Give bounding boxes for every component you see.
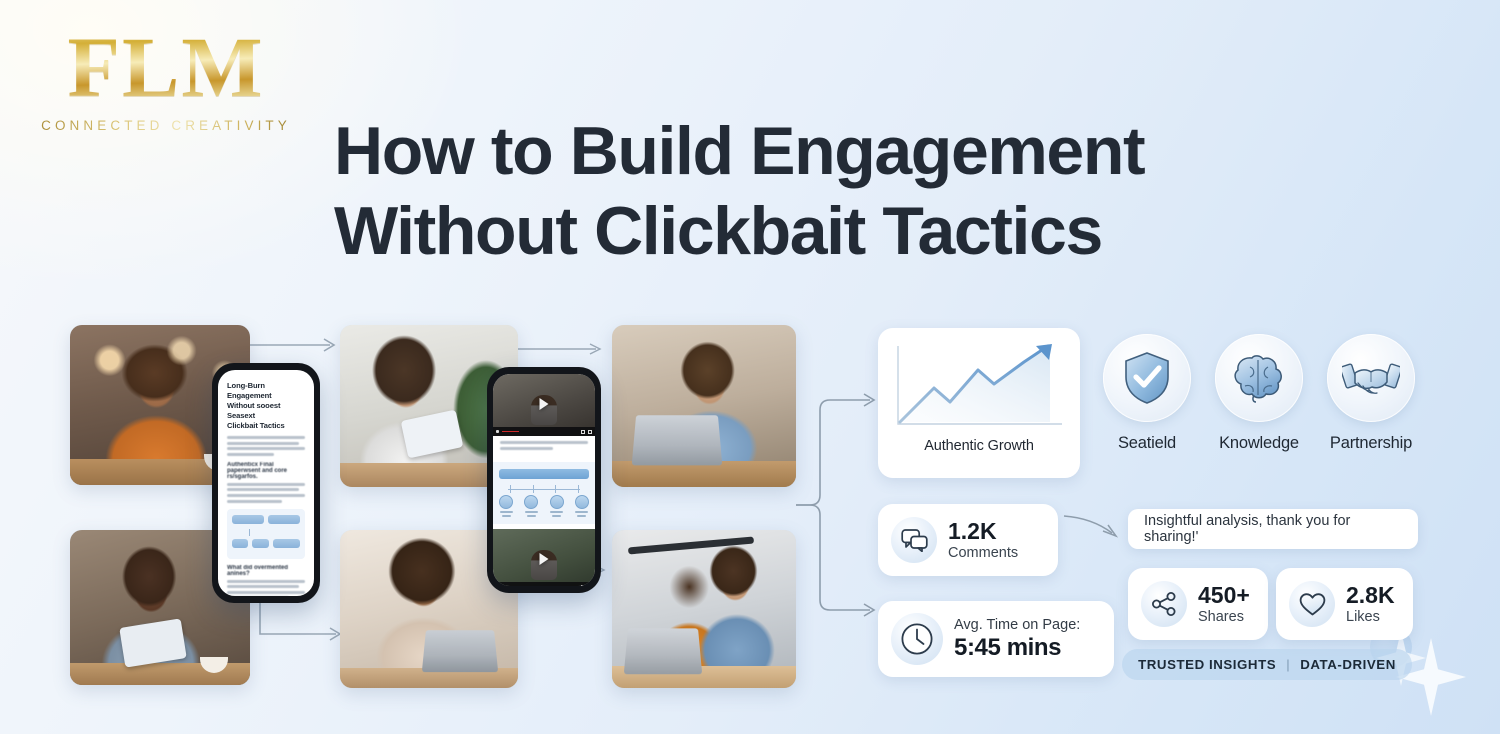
laptop-device — [422, 630, 498, 672]
diagram-nodes — [499, 495, 589, 517]
connector-arrow — [248, 330, 348, 360]
fullscreen-icon[interactable] — [581, 585, 585, 586]
video-player-bottom[interactable] — [493, 529, 595, 586]
heart-icon — [1289, 581, 1335, 627]
article-headline-line-1: Long-Burn Engagement — [227, 381, 272, 400]
growth-card-caption: Authentic Growth — [924, 438, 1034, 454]
play-icon[interactable] — [540, 398, 549, 410]
page-title: How to Build Engagement Without Clickbai… — [334, 112, 1204, 271]
article-subhead-2: What did overmented anines? — [227, 565, 305, 577]
stat-value: 450+ — [1198, 583, 1250, 607]
diagram-connector — [249, 529, 283, 536]
node-label — [525, 511, 538, 513]
node-label — [527, 515, 536, 517]
video-player-top[interactable] — [493, 374, 595, 436]
authentic-growth-card: Authentic Growth — [878, 328, 1080, 478]
diagram-row-bottom — [232, 539, 300, 548]
brain-icon — [1215, 334, 1303, 422]
settings-icon[interactable] — [588, 430, 592, 434]
diagram-node — [232, 515, 264, 524]
node-label — [575, 511, 588, 513]
infographic-canvas: FLM CONNECTED CREATIVITY How to Build En… — [0, 0, 1500, 734]
node-circle-icon — [575, 495, 589, 509]
article-body-line — [227, 488, 299, 491]
stat-time-on-page: Avg. Time on Page: 5:45 mins — [878, 601, 1114, 677]
node-circle-icon — [550, 495, 564, 509]
badge-partnership[interactable]: Partnership — [1325, 334, 1417, 453]
article-headline-line-3: Clickbait Tactics — [227, 421, 285, 430]
caption-line — [500, 441, 588, 444]
stat-comments: 1.2K Comments — [878, 504, 1058, 576]
phone-mockup-article[interactable]: Long-Burn Engagement Without sooest Seas… — [212, 363, 320, 603]
stat-label: Likes — [1346, 609, 1395, 625]
share-nodes-icon — [1141, 581, 1187, 627]
trust-badge-pill: TRUSTED INSIGHTS | DATA-DRIVEN — [1122, 649, 1412, 680]
video-controls[interactable] — [493, 582, 595, 586]
node-label — [550, 511, 563, 513]
stat-text: Avg. Time on Page: 5:45 mins — [954, 617, 1080, 662]
stat-text: 450+ Shares — [1198, 583, 1250, 624]
phone-screen: Long-Burn Engagement Without sooest Seas… — [218, 370, 314, 596]
brand-logo: FLM CONNECTED CREATIVITY — [36, 24, 296, 133]
trust-right-label: DATA-DRIVEN — [1300, 657, 1396, 672]
node-circle-icon — [499, 495, 513, 509]
node-circle-icon — [524, 495, 538, 509]
speech-bubbles-icon — [891, 517, 937, 563]
phone-screen — [493, 374, 595, 586]
play-icon[interactable] — [540, 553, 549, 565]
play-control-icon[interactable] — [496, 585, 499, 586]
shield-check-icon — [1103, 334, 1191, 422]
badge-knowledge[interactable]: Knowledge — [1213, 334, 1305, 453]
diagram-connectors — [499, 485, 589, 493]
diagram-node — [273, 539, 300, 548]
video-caption-lines — [493, 436, 595, 457]
badge-label: Seatield — [1101, 434, 1193, 453]
diagram-node — [524, 495, 538, 517]
diagram-node — [575, 495, 589, 517]
diagram-node — [499, 495, 513, 517]
badge-seatield[interactable]: Seatield — [1101, 334, 1193, 453]
trust-left-label: TRUSTED INSIGHTS — [1138, 657, 1276, 672]
stat-label: Comments — [948, 545, 1018, 561]
fullscreen-icon[interactable] — [581, 430, 585, 434]
diagram-node — [252, 539, 268, 548]
article-headline-line-2: Without sooest Seasext — [227, 401, 280, 420]
node-label — [502, 515, 511, 517]
stat-shares: 450+ Shares — [1128, 568, 1268, 640]
diagram-node — [550, 495, 564, 517]
badge-label: Knowledge — [1213, 434, 1305, 453]
laptop-device — [632, 415, 723, 465]
handshake-icon — [1327, 334, 1415, 422]
caption-line — [500, 447, 553, 450]
article-content: Long-Burn Engagement Without sooest Seas… — [218, 370, 314, 596]
diagram-row-top — [232, 515, 300, 524]
badge-label: Partnership — [1325, 434, 1417, 453]
stat-value: 2.8K — [1346, 583, 1395, 607]
article-inline-diagram — [227, 509, 305, 559]
connector-branch — [796, 380, 888, 630]
play-control-icon[interactable] — [496, 430, 499, 433]
logo-wordmark: FLM — [36, 24, 296, 110]
diagram-node — [268, 515, 300, 524]
progress-bar[interactable] — [502, 431, 519, 433]
laptop-device — [624, 628, 702, 674]
article-body-line — [227, 591, 305, 594]
line-chart-up-icon — [890, 340, 1068, 434]
stat-label: Avg. Time on Page: — [954, 617, 1080, 633]
workflow-photo-5 — [612, 325, 796, 487]
stat-value: 1.2K — [948, 519, 1018, 543]
phone-mockup-video[interactable] — [487, 367, 601, 593]
article-body-line — [227, 580, 305, 583]
article-body-line — [227, 500, 282, 503]
title-line-1: How to Build Engagement — [334, 113, 1144, 189]
connector-arrow — [516, 335, 616, 365]
diagram-node — [232, 539, 248, 548]
article-body-line — [227, 442, 299, 445]
clock-icon — [891, 613, 943, 665]
article-body-line — [227, 585, 299, 588]
four-node-flow-diagram — [493, 462, 595, 524]
article-body-line — [227, 494, 305, 497]
logo-tagline: CONNECTED CREATIVITY — [36, 118, 296, 133]
workflow-photo-6 — [612, 530, 796, 688]
article-body-line — [227, 453, 274, 456]
connector-arrow — [1062, 512, 1128, 546]
diagram-header-bar — [499, 469, 589, 479]
stat-text: 1.2K Comments — [948, 519, 1018, 560]
stat-likes: 2.8K Likes — [1276, 568, 1413, 640]
article-subhead-1: Authenticx Final paperwsent and core rs/… — [227, 462, 305, 480]
article-body-line — [227, 436, 305, 439]
trust-divider: | — [1286, 657, 1290, 672]
stat-text: 2.8K Likes — [1346, 583, 1395, 624]
node-label — [577, 515, 586, 517]
settings-icon[interactable] — [588, 585, 592, 586]
article-body-line — [227, 447, 305, 450]
stat-value: 5:45 mins — [954, 634, 1080, 662]
stat-label: Shares — [1198, 609, 1250, 625]
video-controls[interactable] — [493, 427, 595, 436]
article-headline: Long-Burn Engagement Without sooest Seas… — [227, 381, 305, 431]
sparkle-icon — [1396, 638, 1466, 716]
node-label — [552, 515, 561, 517]
testimonial-quote: Insightful analysis, thank you for shari… — [1128, 509, 1418, 549]
title-line-2: Without Clickbait Tactics — [334, 192, 1204, 272]
node-label — [500, 511, 513, 513]
article-body-line — [227, 483, 305, 486]
